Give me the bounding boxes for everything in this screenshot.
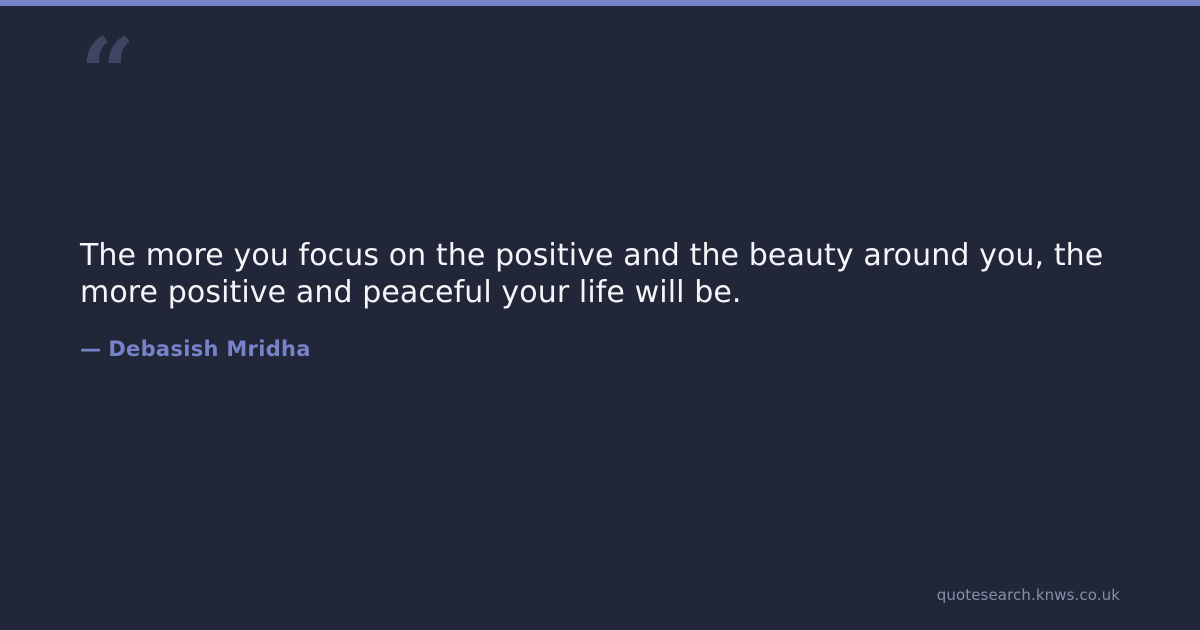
quote-attribution: —Debasish Mridha (80, 311, 1120, 362)
quote-card: “ The more you focus on the positive and… (0, 0, 1200, 630)
top-accent-bar (0, 0, 1200, 6)
quote-content: The more you focus on the positive and t… (80, 238, 1120, 362)
quotation-mark-icon: “ (80, 26, 140, 88)
quote-text: The more you focus on the positive and t… (80, 238, 1120, 311)
attribution-dash: — (80, 337, 108, 362)
site-watermark: quotesearch.knws.co.uk (937, 586, 1120, 604)
attribution-author: Debasish Mridha (108, 337, 310, 361)
